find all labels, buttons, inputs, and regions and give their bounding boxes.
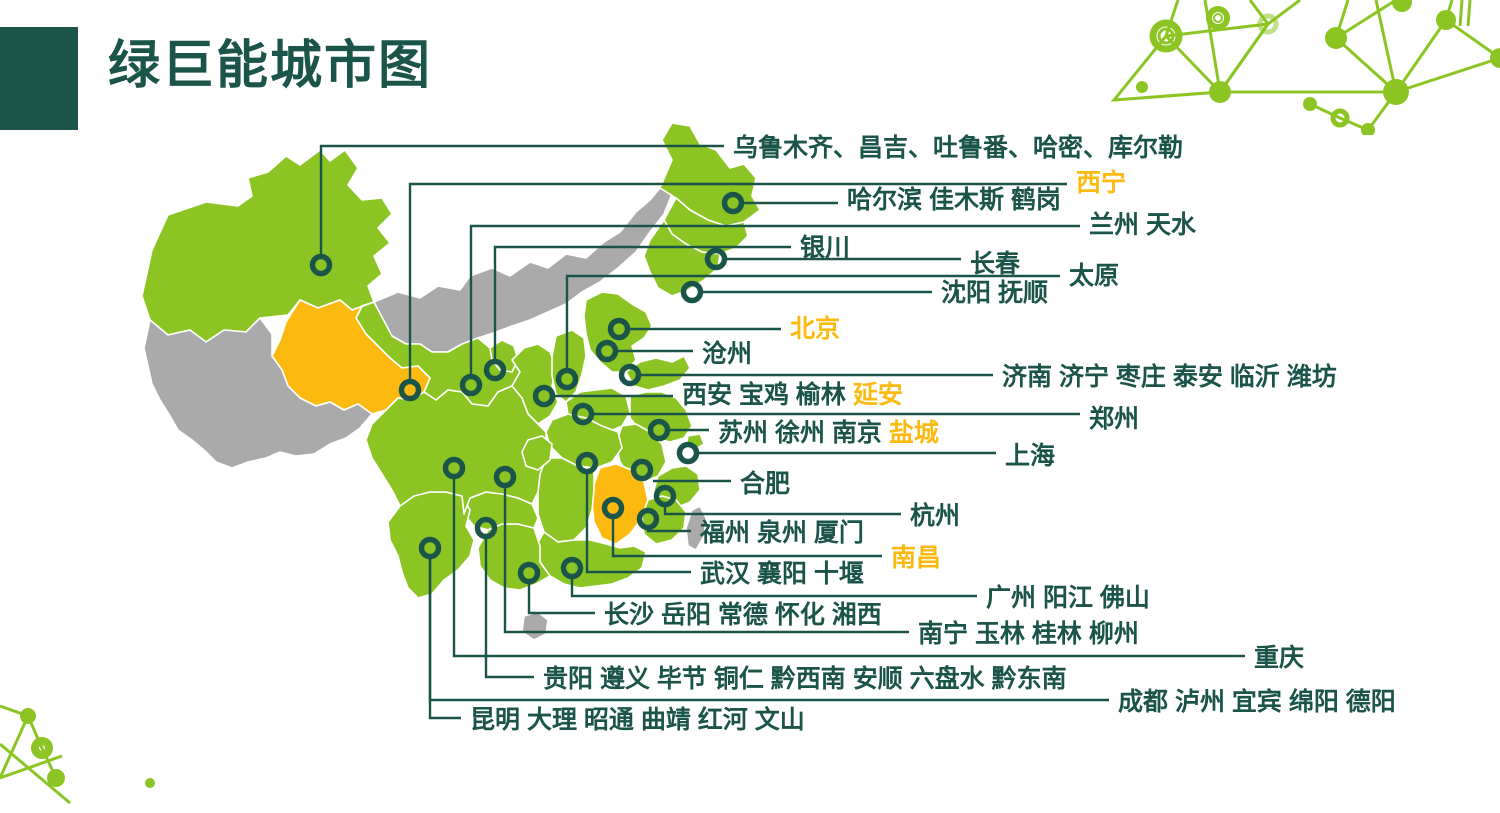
slide-canvas: 绿巨能城市图 <box>0 0 1500 813</box>
city-label-nanchang: 南昌 <box>891 546 941 571</box>
city-label-suzhou: 苏州 徐州 南京 盐城 <box>718 421 939 446</box>
city-label-highlight: 盐城 <box>889 419 939 447</box>
city-label-taiyuan: 太原 <box>1069 264 1119 289</box>
city-label-harbin: 哈尔滨 佳木斯 鹤岗 <box>847 188 1061 213</box>
city-label-shanghai: 上海 <box>1005 444 1055 469</box>
city-label-changchun: 长春 <box>970 252 1020 277</box>
leader-kunming <box>430 559 461 718</box>
city-label-fuzhou: 福州 泉州 厦门 <box>700 521 864 546</box>
city-label-shenyang: 沈阳 抚顺 <box>941 281 1048 306</box>
city-label-xian: 西安 宝鸡 榆林 延安 <box>682 383 903 408</box>
city-label-zhengzhou: 郑州 <box>1089 407 1139 432</box>
city-label-xining: 西宁 <box>1076 171 1126 196</box>
leader-changsha <box>529 584 595 613</box>
city-label-kunming: 昆明 大理 昭通 曲靖 红河 文山 <box>470 708 805 733</box>
leader-wuhan <box>587 474 691 572</box>
city-label-wuhan: 武汉 襄阳 十堰 <box>700 562 864 587</box>
city-label-guangzhou: 广州 阳江 佛山 <box>986 586 1150 611</box>
city-label-lanzhou: 兰州 天水 <box>1089 213 1196 238</box>
city-label-highlight: 延安 <box>853 381 903 409</box>
city-label-urumqi: 乌鲁木齐、昌吉、吐鲁番、哈密、库尔勒 <box>733 136 1183 161</box>
city-label-guiyang: 贵阳 遵义 毕节 铜仁 黔西南 安顺 六盘水 黔东南 <box>543 667 1067 692</box>
city-label-beijing: 北京 <box>790 317 840 342</box>
city-label-chengdu: 成都 泸州 宜宾 绵阳 德阳 <box>1118 690 1396 715</box>
leader-urumqi <box>321 146 724 255</box>
city-label-chongqing: 重庆 <box>1254 646 1304 671</box>
city-label-yinchuan: 银川 <box>800 236 850 261</box>
city-label-nanning: 南宁 玉林 桂林 柳州 <box>918 622 1139 647</box>
city-label-changsha: 长沙 岳阳 常德 怀化 湘西 <box>604 603 882 628</box>
city-label-hangzhou: 杭州 <box>910 504 960 529</box>
leader-hangzhou <box>665 507 901 514</box>
leader-fuzhou <box>648 530 691 531</box>
city-label-cangzhou: 沧州 <box>702 342 752 367</box>
city-label-jinan: 济南 济宁 枣庄 泰安 临沂 潍坊 <box>1002 365 1337 390</box>
city-label-hefei: 合肥 <box>740 472 790 497</box>
